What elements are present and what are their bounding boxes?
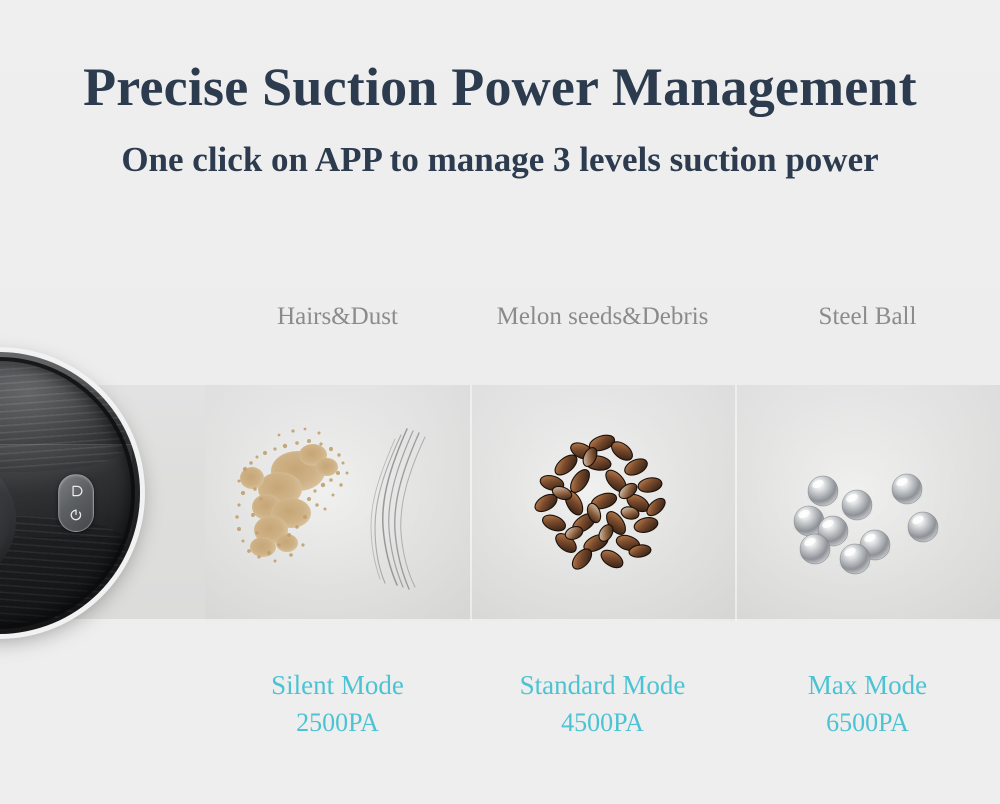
debris-sample-strip <box>0 385 1000 621</box>
sample-cell-steel-ball <box>735 385 1000 621</box>
mode-max-power: 6500PA <box>735 704 1000 742</box>
mode-silent: Silent Mode 2500PA <box>205 666 470 742</box>
home-dock-icon[interactable] <box>69 484 83 498</box>
dust-and-hair-illustration <box>205 385 470 621</box>
mode-standard-name: Standard Mode <box>470 666 735 704</box>
debris-label-melon-seeds: Melon seeds&Debris <box>470 298 735 338</box>
debris-label-hairs-dust: Hairs&Dust <box>205 298 470 338</box>
steel-balls-illustration <box>735 385 1000 621</box>
robot-button-panel[interactable] <box>58 474 94 532</box>
sample-cell-hairs-dust <box>205 385 470 621</box>
page-subtitle: One click on APP to manage 3 levels suct… <box>0 140 1000 180</box>
suction-mode-labels: Silent Mode 2500PA Standard Mode 4500PA … <box>205 666 1000 742</box>
page-title: Precise Suction Power Management <box>0 58 1000 117</box>
debris-label-steel-ball: Steel Ball <box>735 298 1000 338</box>
sample-cell-melon-seeds <box>470 385 735 621</box>
mode-standard-power: 4500PA <box>470 704 735 742</box>
mode-standard: Standard Mode 4500PA <box>470 666 735 742</box>
debris-type-labels: Hairs&Dust Melon seeds&Debris Steel Ball <box>205 298 1000 338</box>
power-icon[interactable] <box>69 508 83 522</box>
mode-max: Max Mode 6500PA <box>735 666 1000 742</box>
suction-power-infographic: Precise Suction Power Management One cli… <box>0 0 1000 804</box>
mode-silent-name: Silent Mode <box>205 666 470 704</box>
mode-silent-power: 2500PA <box>205 704 470 742</box>
mode-max-name: Max Mode <box>735 666 1000 704</box>
melon-seeds-illustration <box>470 385 735 621</box>
